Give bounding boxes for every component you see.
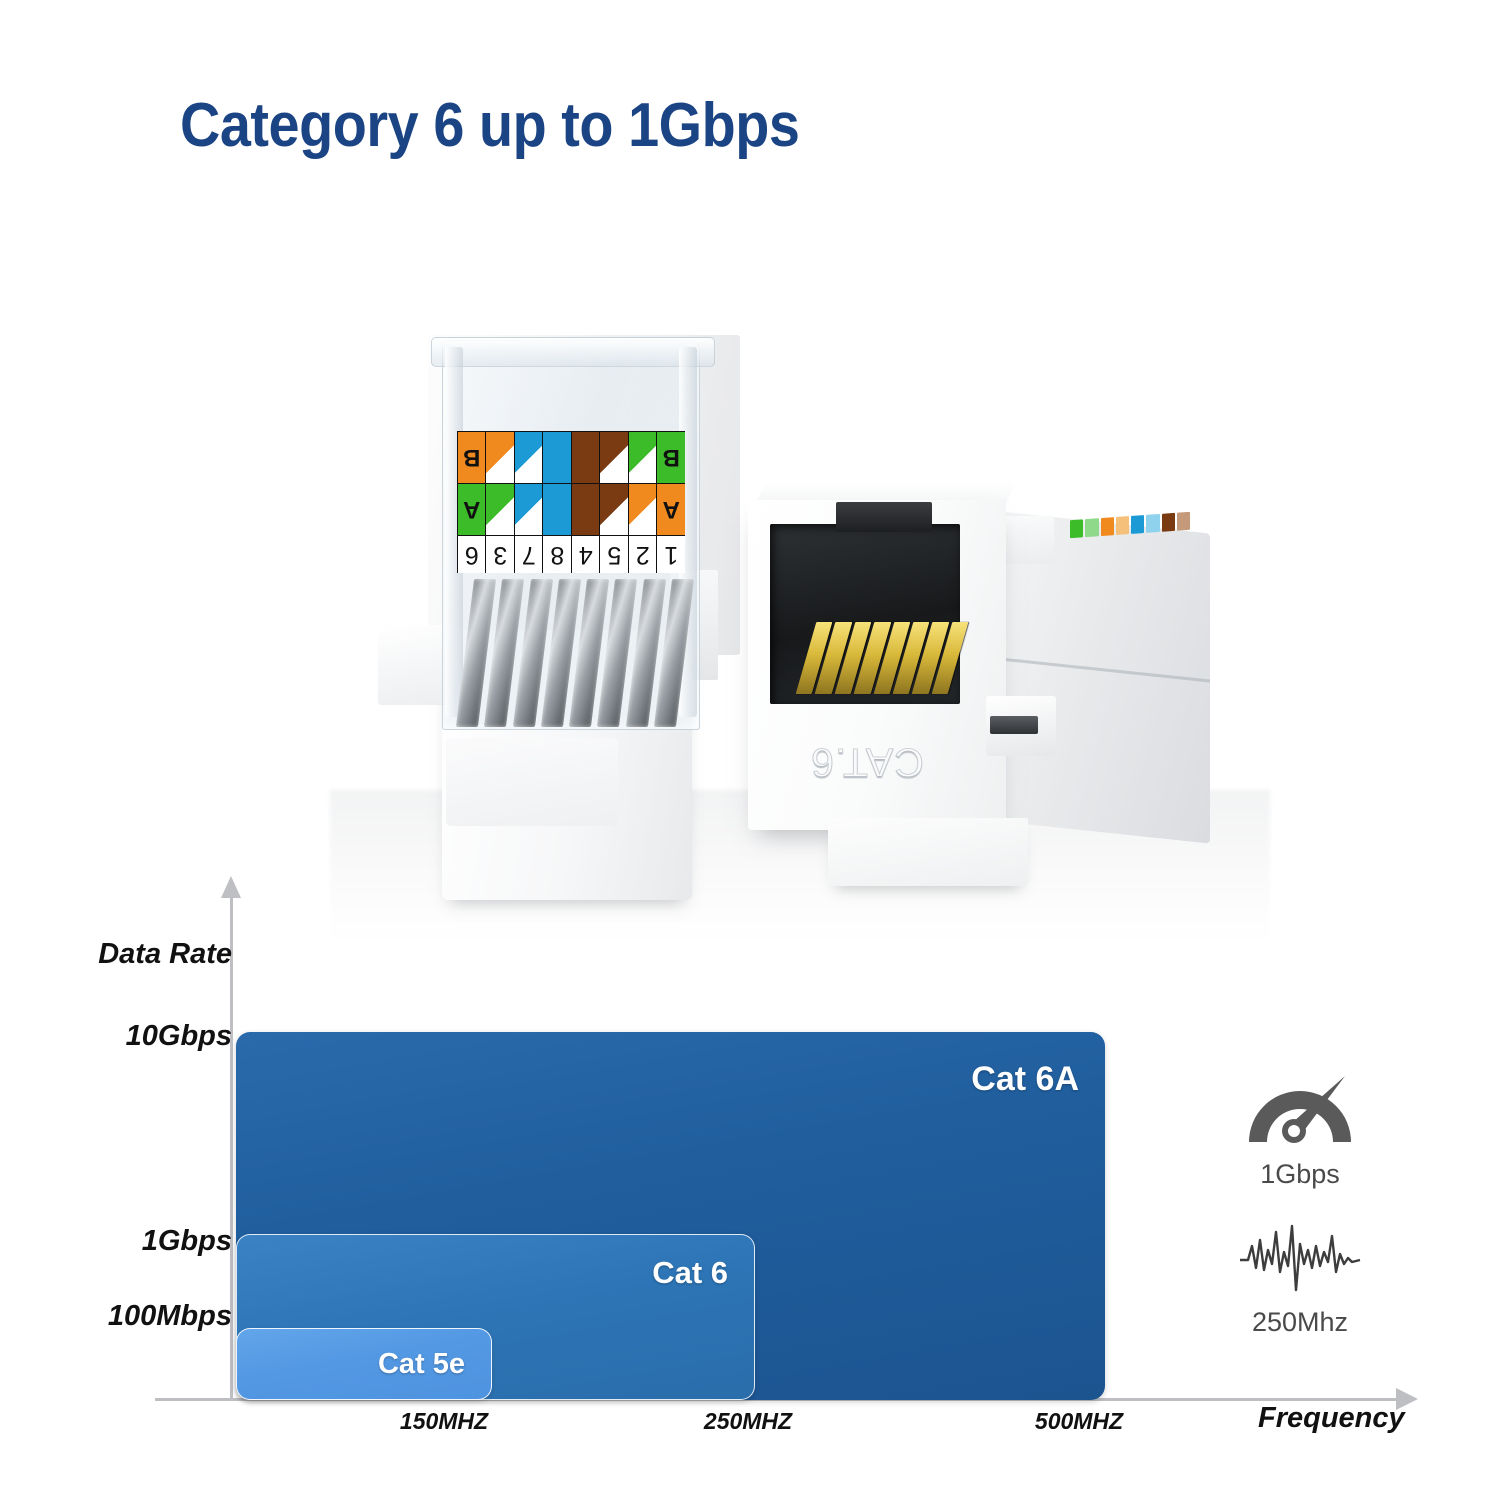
wire-swatch-a-6 [514, 483, 543, 535]
y-tick-1gbps: 1Gbps [142, 1225, 232, 1258]
wire-swatch-a-4 [571, 483, 600, 535]
jack-front-face: CAT.6 [748, 500, 1006, 830]
wire-swatch-a-7 [486, 483, 515, 535]
rj45-port-key [836, 502, 932, 532]
wire-swatch-b-8: B [457, 431, 486, 483]
x-tick-250mhz: 250MHZ [704, 1408, 792, 1435]
wire-swatch-a-1: A [657, 483, 686, 535]
idc-contact-fingers [465, 579, 685, 727]
jack-front-notch [446, 738, 618, 826]
keystone-jack-rj45: CAT.6 [740, 500, 1240, 920]
pin-number-3: 3 [486, 535, 515, 573]
waveform-icon-block: 250Mhz [1190, 1220, 1410, 1338]
rear-wire-8 [1177, 512, 1190, 531]
x-tick-500mhz: 500MHZ [1035, 1408, 1123, 1435]
punchdown-clear-cap: 12548736AABB [442, 340, 700, 730]
bar-label-cat-6: Cat 6 [652, 1255, 728, 1291]
wire-swatch-b-7 [486, 431, 515, 483]
wire-swatch-a-8: A [457, 483, 486, 535]
bar-label-cat-6a: Cat 6A [971, 1060, 1079, 1099]
cap-top-bar [431, 337, 715, 367]
rear-wire-3 [1101, 517, 1114, 536]
wire-swatch-b-4 [571, 431, 600, 483]
product-photo-area: 12548736AABB CAT.6 [330, 230, 1270, 930]
wire-swatch-b-1: B [657, 431, 686, 483]
keystone-jack-punchdown: 12548736AABB [370, 330, 770, 890]
rear-wire-4 [1116, 516, 1129, 535]
gold-contact-pins [796, 622, 969, 694]
pin-number-2: 2 [628, 535, 657, 573]
wire-swatch-b-6 [514, 431, 543, 483]
y-axis-title: Data Rate [98, 938, 232, 971]
x-tick-150mhz: 150MHZ [400, 1408, 488, 1435]
data-rate-frequency-chart: Data Rate 10Gbps 1Gbps 100Mbps Cat 6A Ca… [0, 880, 1500, 1500]
page-title: Category 6 up to 1Gbps [180, 90, 799, 161]
y-tick-10gbps: 10Gbps [126, 1020, 232, 1053]
wire-swatch-a-5 [543, 483, 572, 535]
rear-wire-6 [1146, 514, 1159, 533]
pin-number-4: 4 [571, 535, 600, 573]
y-axis-arrow [221, 876, 241, 898]
speedometer-icon-block: 1Gbps [1190, 1070, 1410, 1190]
pin-number-8: 8 [543, 535, 572, 573]
waveform-caption: 250Mhz [1190, 1307, 1410, 1338]
wire-swatch-a-3 [600, 483, 629, 535]
x-axis-title: Frequency [1258, 1402, 1405, 1435]
infographic-page: Category 6 up to 1Gbps 12548736AABB [0, 0, 1500, 1500]
pin-number-5: 5 [600, 535, 629, 573]
wire-swatch-b-2 [628, 431, 657, 483]
wire-swatch-b-3 [600, 431, 629, 483]
bar-cat-5e[interactable]: Cat 5e [236, 1328, 492, 1400]
speedometer-caption: 1Gbps [1190, 1159, 1410, 1190]
pin-number-6: 6 [457, 535, 486, 573]
wire-swatch-b-5 [543, 431, 572, 483]
wiring-color-code-grid: 12548736AABB [457, 383, 685, 573]
speedometer-icon [1241, 1070, 1359, 1148]
waveform-icon [1238, 1220, 1362, 1296]
rear-wire-2 [1085, 518, 1098, 537]
rear-wire-7 [1162, 513, 1175, 532]
jack-base [828, 818, 1028, 886]
rj45-port-opening [770, 524, 960, 704]
pin-number-1: 1 [657, 535, 686, 573]
pin-number-7: 7 [514, 535, 543, 573]
y-tick-100mbps: 100Mbps [108, 1300, 232, 1333]
rear-wire-1 [1070, 519, 1083, 538]
bar-label-cat-5e: Cat 5e [378, 1348, 465, 1381]
jack-latch-slot [990, 716, 1038, 734]
wire-swatch-a-2 [628, 483, 657, 535]
rear-wire-5 [1131, 515, 1144, 534]
cat6-emboss-text: CAT.6 [772, 736, 962, 790]
